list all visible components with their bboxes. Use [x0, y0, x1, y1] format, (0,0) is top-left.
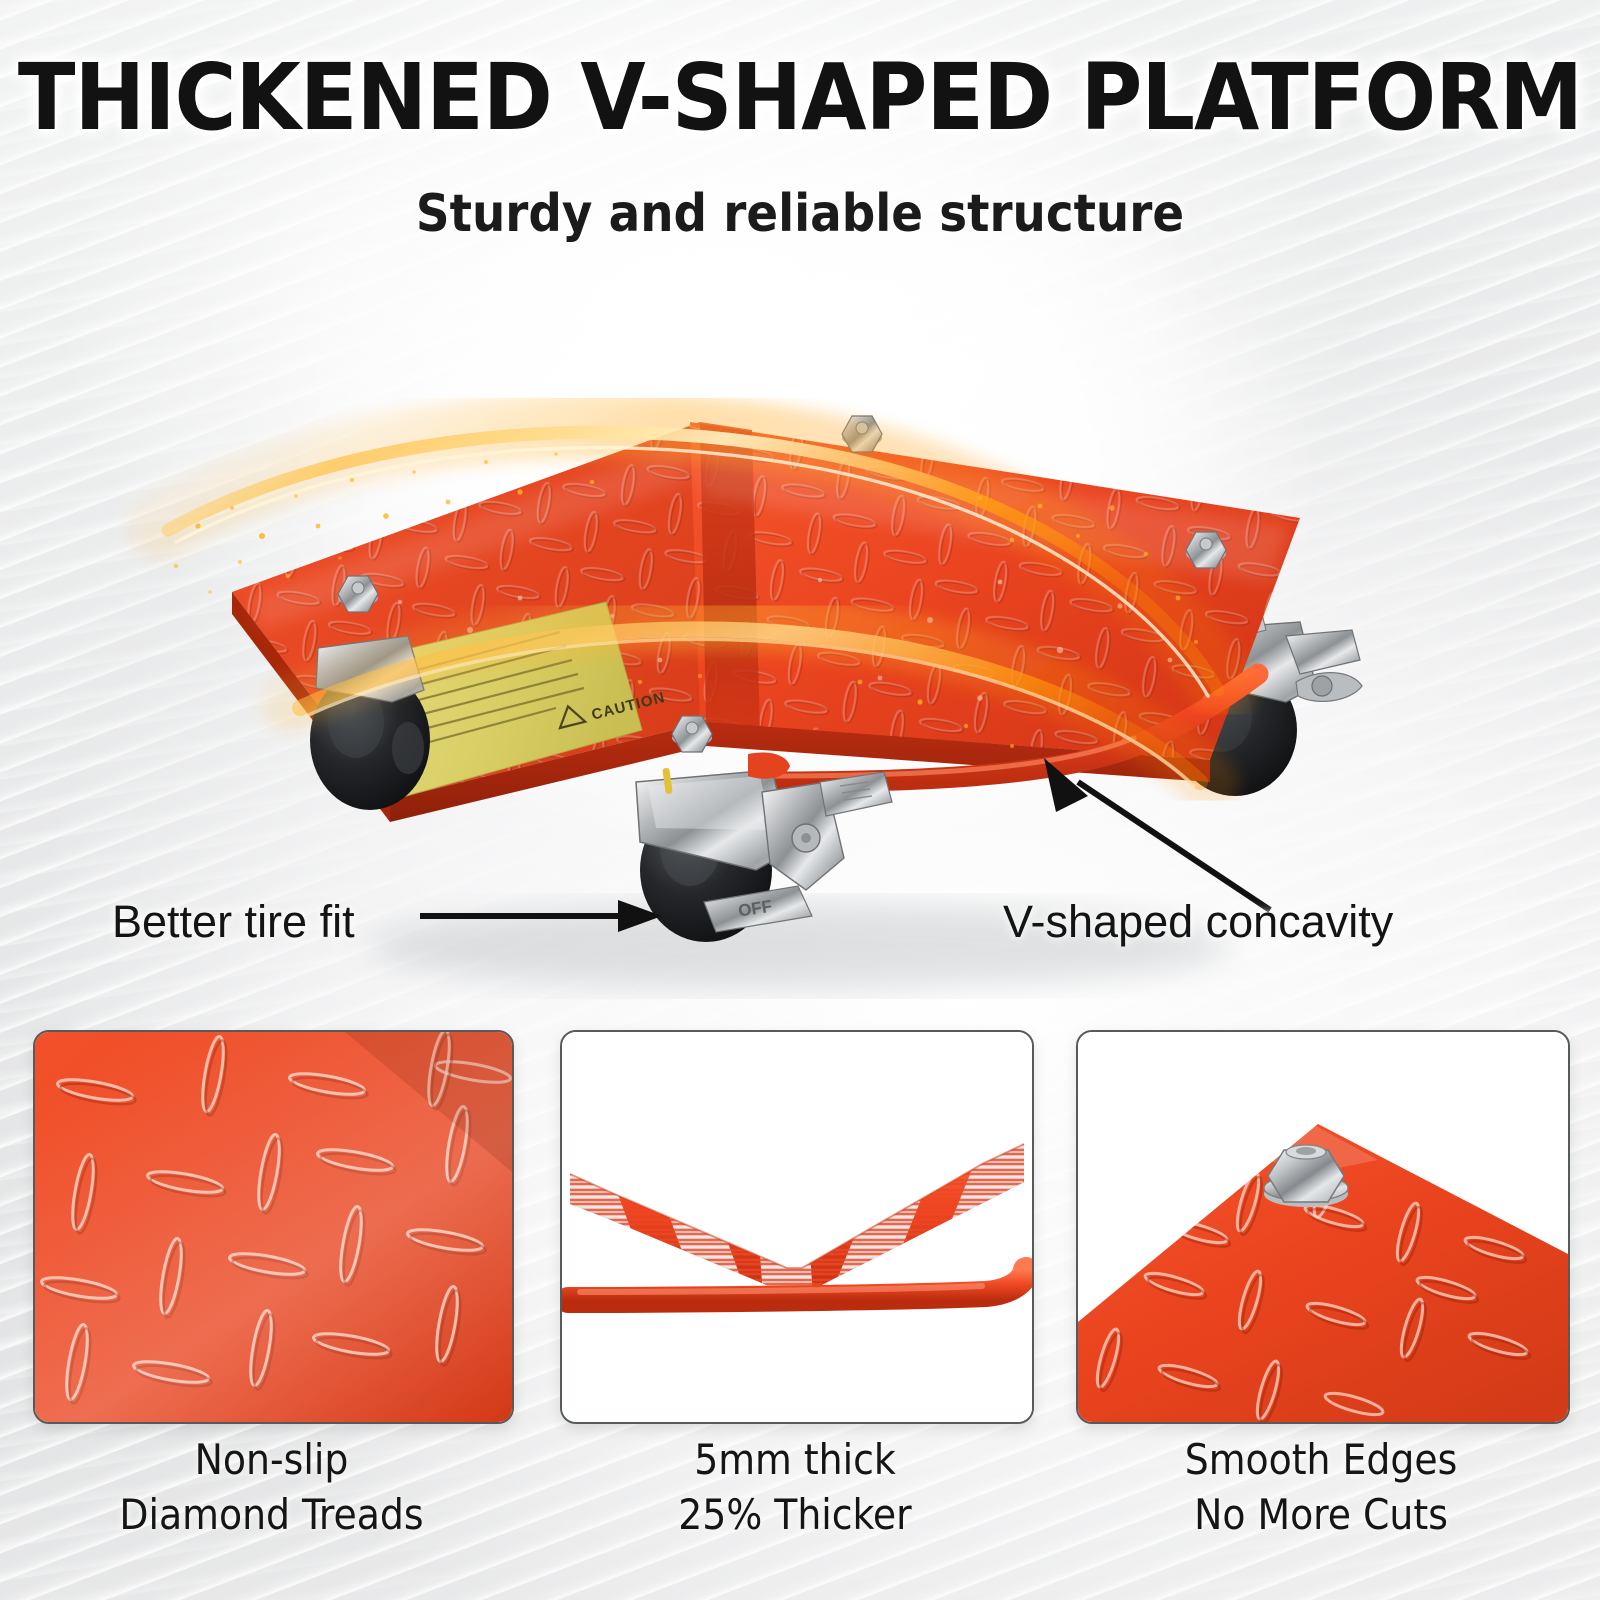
callout-label-v-shaped-concavity: V-shaped concavity: [1003, 896, 1393, 948]
caption-line-1: Smooth Edges: [1185, 1435, 1458, 1484]
page-title: THICKENED V-SHAPED PLATFORM: [0, 52, 1600, 144]
product-infographic: THICKENED V-SHAPED PLATFORM Sturdy and r…: [0, 0, 1600, 1600]
page-subtitle: Sturdy and reliable structure: [0, 188, 1600, 240]
feature-caption-thickness: 5mm thick 25% Thicker: [560, 1432, 1030, 1543]
caption-line-2: 25% Thicker: [560, 1487, 1030, 1542]
callout-label-better-tire-fit: Better tire fit: [112, 896, 355, 948]
feature-panels: [0, 1030, 1600, 1420]
feature-panel-smooth-corner[interactable]: [1076, 1030, 1570, 1424]
caption-line-1: Non-slip: [195, 1435, 349, 1484]
caption-line-1: 5mm thick: [694, 1435, 896, 1484]
feature-caption-smooth-edges: Smooth Edges No More Cuts: [1076, 1432, 1566, 1543]
feature-panel-v-profile[interactable]: [560, 1030, 1034, 1424]
caption-line-2: Diamond Treads: [33, 1487, 510, 1542]
feature-panel-diamond-tread[interactable]: [33, 1030, 514, 1424]
feature-caption-diamond-tread: Non-slip Diamond Treads: [33, 1432, 510, 1543]
caption-line-2: No More Cuts: [1076, 1487, 1566, 1542]
